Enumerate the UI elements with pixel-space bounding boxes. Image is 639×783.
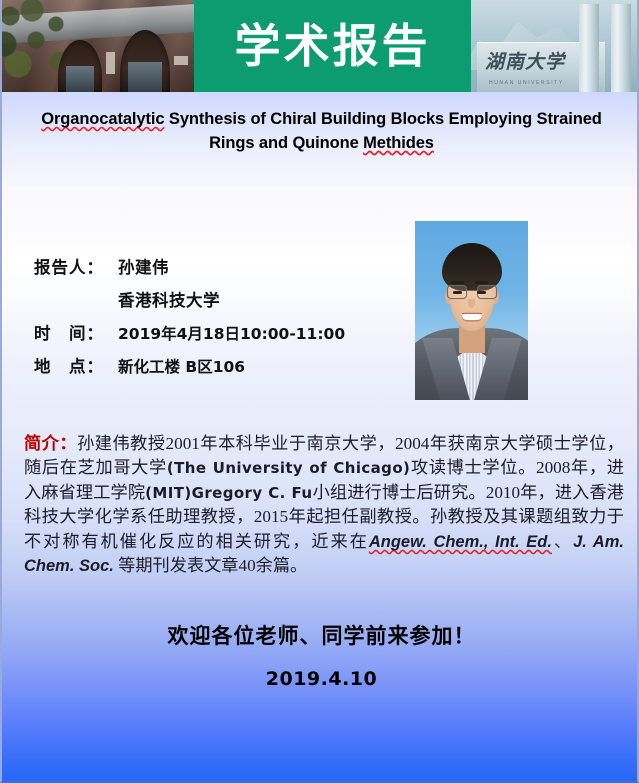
info-value-affiliation: 香港科技大学 [118, 287, 220, 311]
info-value-time: 2019年4月18日10:00-11:00 [118, 322, 345, 344]
portrait-eyebrow-left [451, 281, 464, 284]
banner-title-block: 学术报告 [194, 0, 471, 92]
gate-inscription-cn: 湖南大学 [485, 50, 577, 76]
speaker-portrait [415, 221, 528, 400]
wall-sign [174, 56, 188, 65]
info-row-location: 地 点： 新化工楼 B区106 [34, 353, 394, 377]
welcome-message: 欢迎各位老师、同学前来参加！ [2, 620, 639, 650]
gate-inscription-en: HUNAN UNIVERSITY [489, 80, 564, 86]
biography-seg7: 等期刊发表文章40余篇。 [114, 556, 307, 575]
portrait-eye-left [453, 291, 462, 294]
banner-title: 学术报告 [235, 23, 431, 69]
title-line2-start: Rings and Quinone [209, 134, 363, 152]
window-glass [128, 62, 162, 92]
info-label-time: 时 间： [34, 320, 118, 344]
portrait-nose [468, 299, 475, 308]
stone-column [579, 4, 599, 92]
title-line1-rest: Synthesis of Chiral Building Blocks Empl… [164, 110, 601, 128]
portrait-mouth [462, 314, 482, 320]
info-value-speaker-name: 孙建伟 [118, 254, 169, 278]
portrait-eye-right [477, 291, 486, 294]
page-title: Organocatalytic Synthesis of Chiral Buil… [16, 108, 627, 156]
stone-column [611, 4, 631, 92]
campus-building-photo [2, 0, 194, 92]
info-label-speaker: 报告人： [34, 254, 118, 278]
biography-journal-1: Angew. Chem., Int. Ed. [369, 533, 552, 551]
title-word-spellchecked: Organocatalytic [41, 110, 164, 128]
seminar-poster: 学术报告 湖南大学 HUNAN UNIVERSITY Organocatalyt… [0, 0, 639, 783]
speaker-info-block: 报告人： 孙建伟 香港科技大学 时 间： 2019年4月18日10:00-11:… [34, 254, 394, 386]
biography-seg6: 、 [552, 532, 573, 551]
glasses-bridge [467, 290, 477, 291]
biography-university-latin: (The University of Chicago) [167, 459, 410, 477]
portrait-eyebrow-right [475, 281, 488, 284]
poster-header: 学术报告 湖南大学 HUNAN UNIVERSITY [2, 0, 639, 92]
biography-label: 简介： [24, 434, 77, 453]
wall-sign [106, 52, 115, 74]
info-value-location: 新化工楼 B区106 [118, 355, 245, 377]
poster-date: 2019.4.10 [2, 668, 639, 690]
info-row-time: 时 间： 2019年4月18日10:00-11:00 [34, 320, 394, 344]
biography-paragraph: 简介：孙建伟教授2001年本科毕业于南京大学，2004年获南京大学硕士学位，随后… [24, 432, 624, 579]
hunan-university-gate-photo: 湖南大学 HUNAN UNIVERSITY [471, 0, 639, 92]
info-label-location: 地 点： [34, 353, 118, 377]
info-row-affiliation: 香港科技大学 [34, 287, 394, 311]
window-glass [66, 66, 94, 92]
portrait-hair [442, 243, 502, 291]
biography-mit-latin: (MIT)Gregory C. Fu [145, 484, 312, 502]
title-word-spellchecked-2: Methides [363, 134, 434, 152]
info-row-speaker: 报告人： 孙建伟 [34, 254, 394, 278]
